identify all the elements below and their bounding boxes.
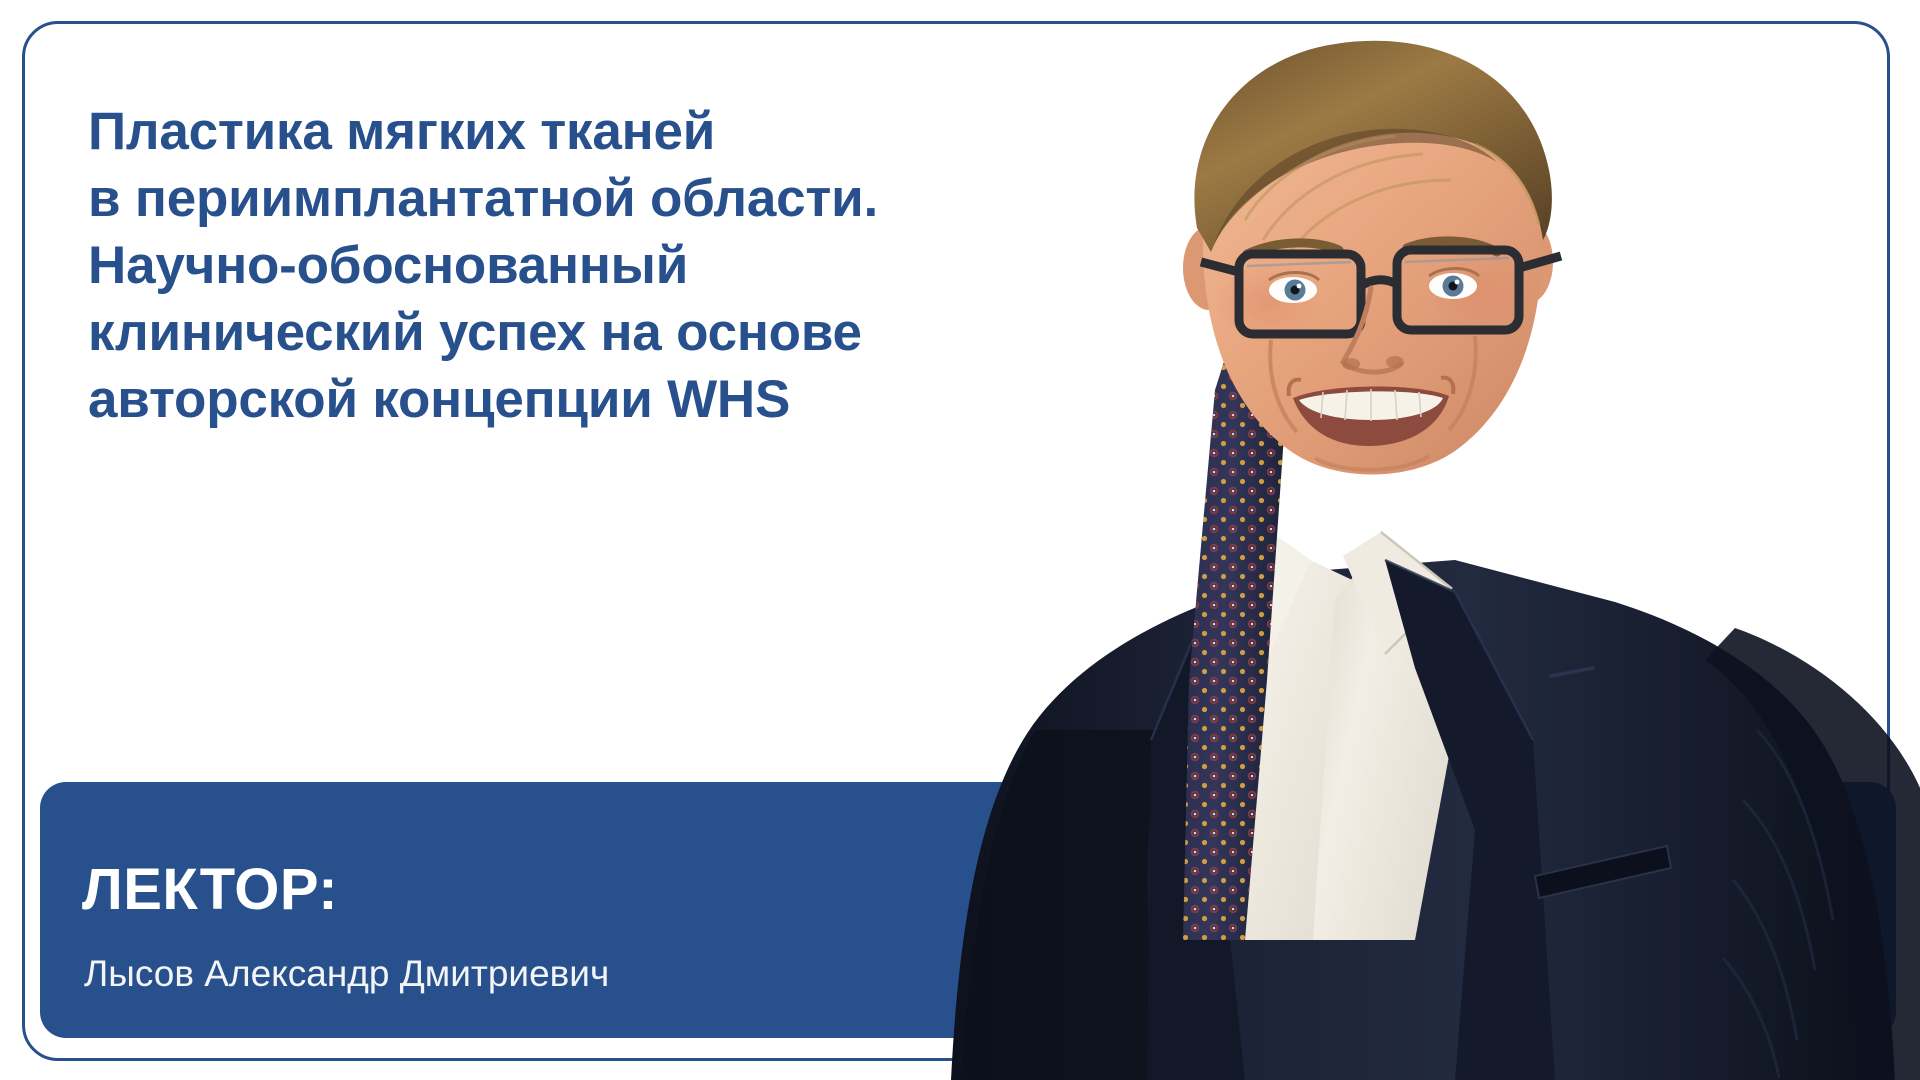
title-line-5: авторской концепции WHS (88, 366, 1148, 433)
page-title: Пластика мягких тканей в периимплантатно… (88, 98, 1148, 433)
lecturer-bar: ЛЕКТОР: Лысов Александр Дмитриевич (40, 782, 1896, 1038)
slide-root: Пластика мягких тканей в периимплантатно… (0, 0, 1920, 1080)
lecturer-label: ЛЕКТОР: (82, 860, 338, 920)
title-line-4: клинический успех на основе (88, 299, 1148, 366)
title-line-3: Научно-обоснованный (88, 232, 1148, 299)
lecturer-name: Лысов Александр Дмитриевич (84, 954, 609, 994)
title-line-1: Пластика мягких тканей (88, 98, 1148, 165)
title-line-2: в периимплантатной области. (88, 165, 1148, 232)
